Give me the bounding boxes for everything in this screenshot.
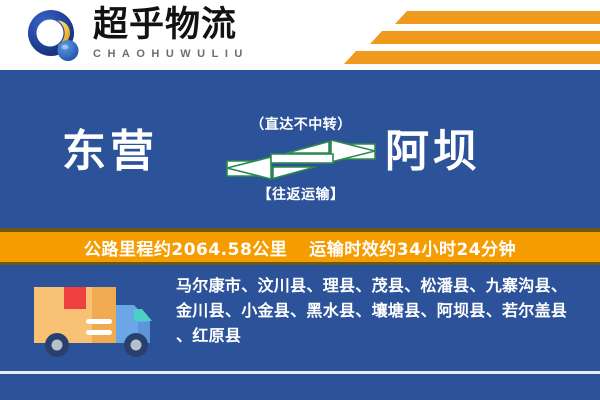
delivery-truck-icon bbox=[30, 279, 170, 361]
banner-header: 超乎物流 CHAOHUWULIU bbox=[0, 0, 600, 70]
route-panel: 东营 （直达不中转） 【往返运 bbox=[0, 70, 600, 230]
header-stripe-1 bbox=[395, 11, 600, 24]
direct-shipping-note: （直达不中转） bbox=[225, 116, 377, 134]
brand-name-cn: 超乎物流 bbox=[93, 6, 353, 45]
chaohu-circle-logo-icon bbox=[27, 9, 81, 63]
double-arrow-icon bbox=[225, 140, 377, 180]
roundtrip-note: 【往返运输】 bbox=[225, 186, 377, 204]
distance-label: 公路里程约2064.58公里 bbox=[84, 235, 287, 260]
destination-line: 、红原县 bbox=[176, 323, 586, 348]
brand-name-en: CHAOHUWULIU bbox=[93, 47, 353, 61]
destination-city: 阿坝 bbox=[385, 126, 481, 178]
route-info-bar: 公路里程约2064.58公里 运输时效约34小时24分钟 bbox=[0, 232, 600, 262]
destination-line: 金川县、小金县、黑水县、壤塘县、阿坝县、若尔盖县 bbox=[176, 298, 586, 323]
header-stripe-2 bbox=[370, 31, 600, 44]
origin-city: 东营 bbox=[62, 126, 158, 178]
route-center-block: （直达不中转） 【往返运输】 bbox=[225, 116, 377, 216]
destination-area: 马尔康市、汶川县、理县、茂县、松潘县、九寨沟县、 金川县、小金县、黑水县、壤塘县… bbox=[0, 265, 600, 400]
brand-wordmark: 超乎物流 CHAOHUWULIU bbox=[93, 6, 353, 61]
destination-county-list: 马尔康市、汶川县、理县、茂县、松潘县、九寨沟县、 金川县、小金县、黑水县、壤塘县… bbox=[176, 273, 586, 348]
header-stripe-decoration bbox=[330, 0, 600, 70]
destination-line: 马尔康市、汶川县、理县、茂县、松潘县、九寨沟县、 bbox=[176, 273, 586, 298]
duration-label: 运输时效约34小时24分钟 bbox=[309, 235, 516, 260]
header-stripe-3 bbox=[344, 51, 600, 64]
logistics-route-banner: 超乎物流 CHAOHUWULIU 东营 （直达不中转） bbox=[0, 0, 600, 400]
bottom-divider bbox=[0, 371, 600, 374]
